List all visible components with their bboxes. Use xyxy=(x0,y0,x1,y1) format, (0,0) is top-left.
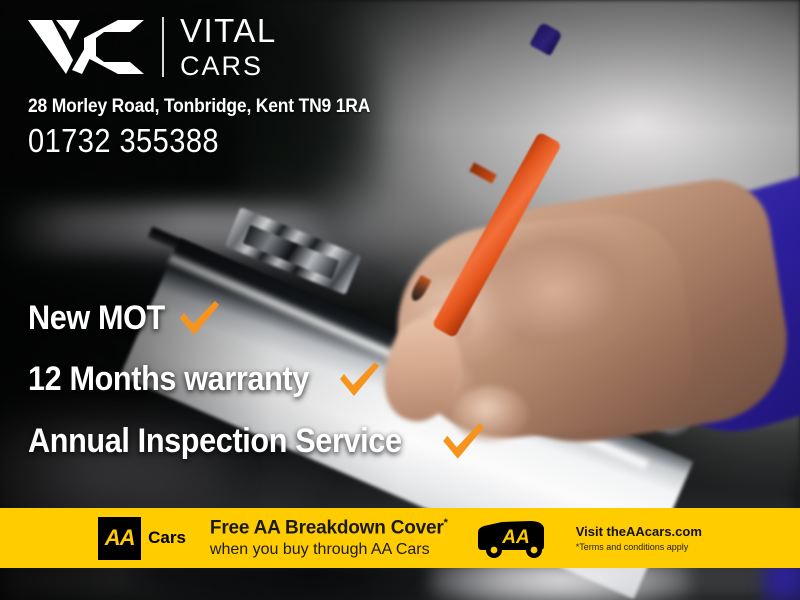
advert-image: VITAL CARS 28 Morley Road, Tonbridge, Ke… xyxy=(0,0,800,600)
aa-logo-text: AA xyxy=(105,525,135,551)
feature-label: Annual Inspection Service xyxy=(28,422,402,461)
aa-offer-text: Free AA Breakdown Cover* when you buy th… xyxy=(210,517,448,559)
check-icon xyxy=(439,420,487,462)
brand-name-line2: CARS xyxy=(180,53,277,80)
feature-item: Annual Inspection Service xyxy=(28,420,487,462)
check-icon xyxy=(176,298,222,338)
aa-visit-url[interactable]: Visit theAAcars.com xyxy=(576,524,702,539)
aa-breakdown-banner: AA Cars Free AA Breakdown Cover* when yo… xyxy=(0,508,800,568)
logo-divider xyxy=(162,17,164,77)
feature-item: New MOT xyxy=(28,298,487,338)
aa-cars-logo: AA Cars xyxy=(98,517,186,560)
vc-monogram-icon xyxy=(26,16,146,78)
feature-label: 12 Months warranty xyxy=(28,360,309,399)
aa-headline: Free AA Breakdown Cover* xyxy=(210,517,448,539)
brand-wordmark: VITAL CARS xyxy=(180,14,277,80)
aa-terms-text: *Terms and conditions apply xyxy=(576,542,702,552)
brand-name-line1: VITAL xyxy=(180,14,277,47)
brand-logo: VITAL CARS xyxy=(26,14,277,80)
aa-van-icon: AA xyxy=(472,516,550,560)
check-icon xyxy=(336,359,382,399)
aa-cars-word: Cars xyxy=(148,528,186,548)
contact-block: 28 Morley Road, Tonbridge, Kent TN9 1RA … xyxy=(28,96,400,160)
feature-item: 12 Months warranty xyxy=(28,359,487,399)
address-text: 28 Morley Road, Tonbridge, Kent TN9 1RA xyxy=(28,96,370,118)
feature-list: New MOT 12 Months warranty Annual Inspec… xyxy=(28,298,487,483)
feature-label: New MOT xyxy=(28,299,165,338)
aa-subline: when you buy through AA Cars xyxy=(210,540,448,559)
aa-logo-square: AA xyxy=(98,517,141,560)
aa-visit-block: Visit theAAcars.com *Terms and condition… xyxy=(576,524,702,552)
phone-number[interactable]: 01732 355388 xyxy=(28,122,355,160)
svg-text:AA: AA xyxy=(501,527,529,548)
aa-headline-asterisk: * xyxy=(444,517,448,529)
aa-headline-text: Free AA Breakdown Cover xyxy=(210,517,444,538)
